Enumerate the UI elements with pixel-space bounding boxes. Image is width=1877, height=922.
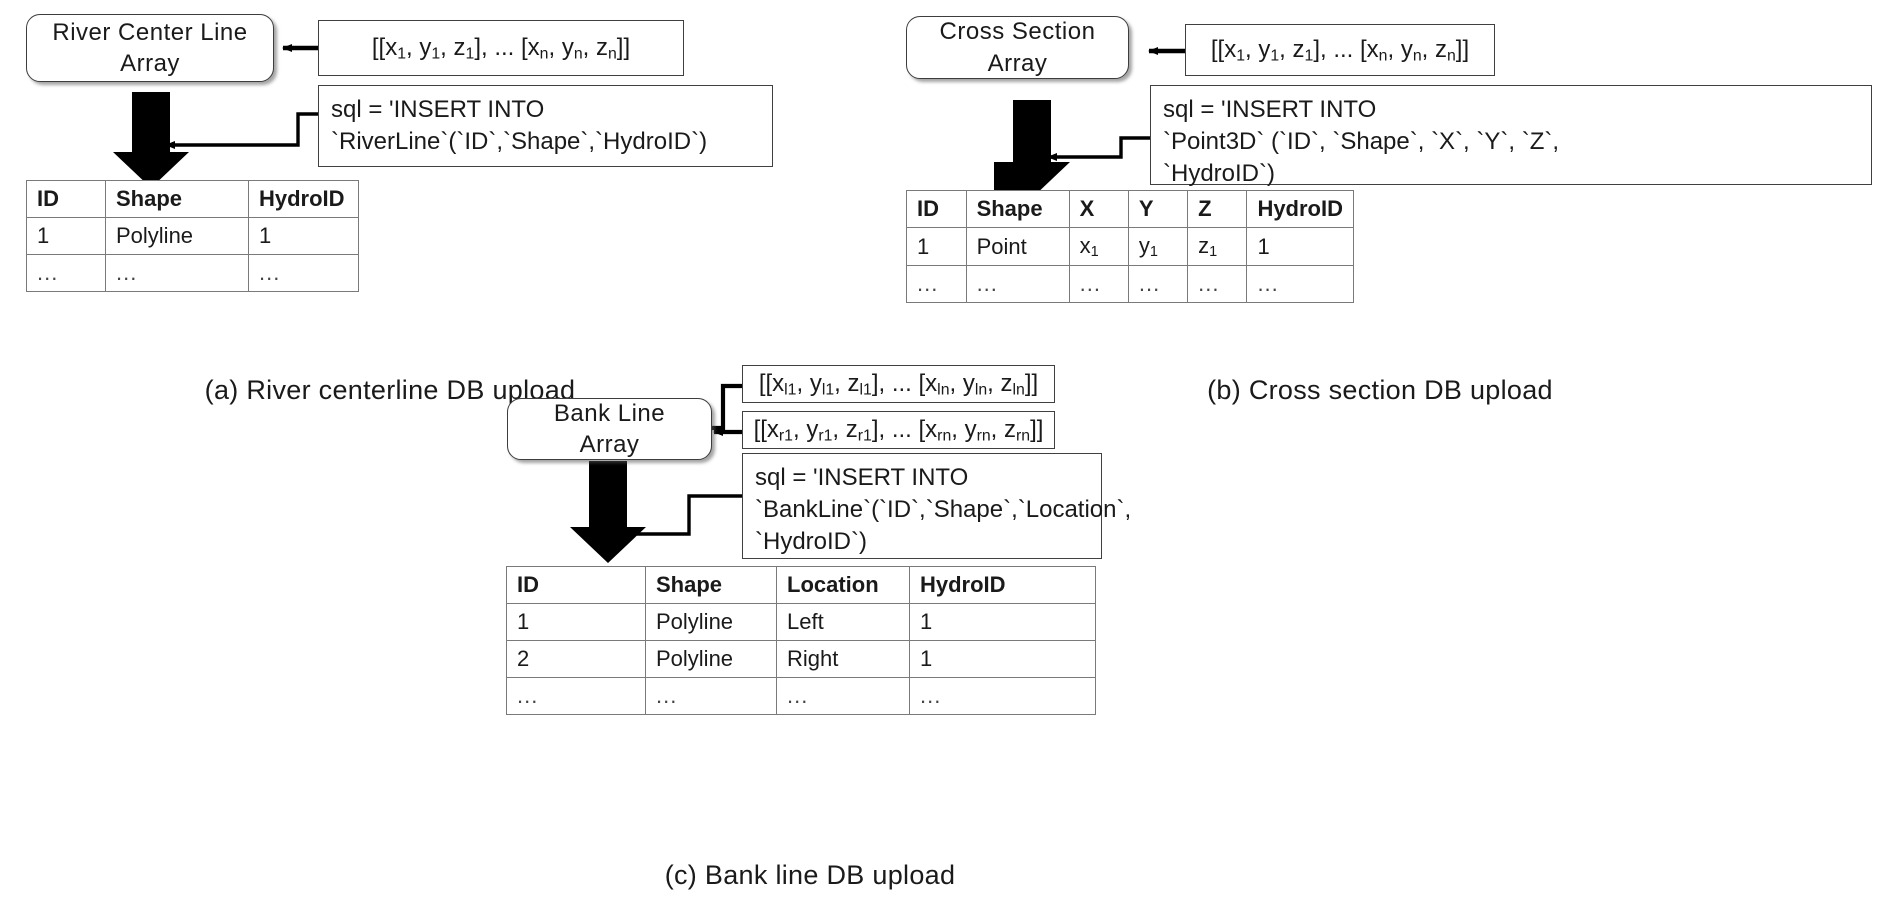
- panel-c-th-hydroid: HydroID: [910, 567, 1096, 604]
- panel-a-r0c2: 1: [249, 218, 359, 255]
- panel-c-th-location: Location: [777, 567, 910, 604]
- panel-a-sql-box: sql = 'INSERT INTO `RiverLine`(`ID`,`Sha…: [318, 85, 773, 167]
- panel-c-sql-to-arrow-connector: [624, 496, 742, 534]
- panel-c-right-array-literal-text: [[xr1, yr1, zr1], ... [xrn, yrn, zrn]]: [754, 414, 1044, 447]
- panel-a-th-hydroid: HydroID: [249, 181, 359, 218]
- panel-a-sql-to-arrow-connector: [166, 114, 318, 145]
- table-header-row: ID Shape X Y Z HydroID: [907, 191, 1354, 228]
- panel-b-th-z: Z: [1188, 191, 1247, 228]
- panel-c-table: ID Shape Location HydroID 1 Polyline Lef…: [506, 566, 1096, 715]
- panel-b-r1c1: ...: [966, 266, 1069, 303]
- panel-b-sql-box: sql = 'INSERT INTO `Point3D` (`ID`, `Sha…: [1150, 85, 1872, 185]
- panel-b-r1c3: ...: [1128, 266, 1187, 303]
- panel-a-fat-down-arrow: [113, 92, 189, 188]
- panel-c-caption: (c) Bank line DB upload: [510, 860, 1110, 891]
- panel-a-array-literal-text: [[x1, y1, z1], ... [xn, yn, zn]]: [372, 32, 630, 65]
- table-row: ... ... ...: [27, 255, 359, 292]
- panel-a-r0c1: Polyline: [106, 218, 249, 255]
- panel-b-r0c1: Point: [966, 228, 1069, 266]
- panel-b-th-hydroid: HydroID: [1247, 191, 1354, 228]
- panel-a-th-id: ID: [27, 181, 106, 218]
- panel-c-array-node: Bank Line Array: [507, 398, 712, 460]
- panel-b-array-node: Cross Section Array: [906, 16, 1129, 79]
- panel-c-r0c3: 1: [910, 604, 1096, 641]
- panel-c-left-array-literal-box: [[xl1, yl1, zl1], ... [xln, yln, zln]]: [742, 365, 1055, 403]
- panel-b-r0c4: z1: [1188, 228, 1247, 266]
- panel-b-array-literal-text: [[x1, y1, z1], ... [xn, yn, zn]]: [1211, 34, 1469, 67]
- panel-b-table: ID Shape X Y Z HydroID 1 Point x1 y1 z1 …: [906, 190, 1354, 303]
- table-row: 1 Polyline 1: [27, 218, 359, 255]
- panel-b-r0c5: 1: [1247, 228, 1354, 266]
- panel-b-node-line1: Cross Section: [940, 18, 1096, 45]
- panel-b-r1c2: ...: [1069, 266, 1128, 303]
- panel-b-r1c5: ...: [1247, 266, 1354, 303]
- panel-a-node-line2: Array: [120, 50, 180, 77]
- table-row: 1 Polyline Left 1: [507, 604, 1096, 641]
- panel-b-th-x: X: [1069, 191, 1128, 228]
- panel-b-sql-text: sql = 'INSERT INTO `Point3D` (`ID`, `Sha…: [1163, 94, 1559, 190]
- panel-c-th-id: ID: [507, 567, 646, 604]
- panel-b-array-node-label: Cross Section Array: [940, 16, 1096, 78]
- panel-c-r2c1: ...: [646, 678, 777, 715]
- panel-c-r2c3: ...: [910, 678, 1096, 715]
- table-row: ... ... ... ...: [507, 678, 1096, 715]
- panel-c-th-shape: Shape: [646, 567, 777, 604]
- panel-a-th-shape: Shape: [106, 181, 249, 218]
- panel-c-r0c0: 1: [507, 604, 646, 641]
- panel-a-r1c2: ...: [249, 255, 359, 292]
- panel-b-r0c0: 1: [907, 228, 967, 266]
- table-row: 1 Point x1 y1 z1 1: [907, 228, 1354, 266]
- panel-c-r0c2: Left: [777, 604, 910, 641]
- panel-b-r0c2: x1: [1069, 228, 1128, 266]
- panel-b-caption: (b) Cross section DB upload: [1030, 375, 1730, 406]
- panel-c-r1c2: Right: [777, 641, 910, 678]
- panel-c-node-line1: Bank Line: [554, 400, 665, 427]
- panel-c-right-array-literal-box: [[xr1, yr1, zr1], ... [xrn, yrn, zrn]]: [742, 411, 1055, 449]
- panel-c-r1c3: 1: [910, 641, 1096, 678]
- panel-b-r1c4: ...: [1188, 266, 1247, 303]
- panel-c-left-array-literal-text: [[xl1, yl1, zl1], ... [xln, yln, zln]]: [759, 368, 1038, 401]
- panel-c-r0c1: Polyline: [646, 604, 777, 641]
- table-header-row: ID Shape Location HydroID: [507, 567, 1096, 604]
- panel-c-sql-text: sql = 'INSERT INTO `BankLine`(`ID`,`Shap…: [755, 462, 1131, 558]
- panel-c-r1c1: Polyline: [646, 641, 777, 678]
- panel-a-array-node-label: River Center Line Array: [52, 17, 247, 79]
- panel-c-r2c0: ...: [507, 678, 646, 715]
- panel-b-r1c0: ...: [907, 266, 967, 303]
- panel-a-r0c0: 1: [27, 218, 106, 255]
- panel-b-sql-to-arrow-connector: [1048, 138, 1156, 157]
- panel-b-array-literal-box: [[x1, y1, z1], ... [xn, yn, zn]]: [1185, 24, 1495, 76]
- panel-a-sql-text: sql = 'INSERT INTO `RiverLine`(`ID`,`Sha…: [331, 94, 707, 158]
- panel-c-node-line2: Array: [580, 431, 640, 458]
- panel-a-array-literal-box: [[x1, y1, z1], ... [xn, yn, zn]]: [318, 20, 684, 76]
- panel-c-array-node-label: Bank Line Array: [554, 398, 665, 460]
- panel-b-fat-down-arrow: [994, 100, 1070, 198]
- panel-c-sql-box: sql = 'INSERT INTO `BankLine`(`ID`,`Shap…: [742, 453, 1102, 559]
- panel-b-th-id: ID: [907, 191, 967, 228]
- panel-b-th-y: Y: [1128, 191, 1187, 228]
- panel-a-r1c1: ...: [106, 255, 249, 292]
- table-row: 2 Polyline Right 1: [507, 641, 1096, 678]
- table-header-row: ID Shape HydroID: [27, 181, 359, 218]
- table-row: ... ... ... ... ... ...: [907, 266, 1354, 303]
- panel-b-th-shape: Shape: [966, 191, 1069, 228]
- panel-c-r2c2: ...: [777, 678, 910, 715]
- panel-a-array-node: River Center Line Array: [26, 14, 274, 82]
- panel-b-r0c3: y1: [1128, 228, 1187, 266]
- panel-a-r1c0: ...: [27, 255, 106, 292]
- panel-a-node-line1: River Center Line: [52, 19, 247, 46]
- panel-c-fat-down-arrow: [570, 461, 646, 563]
- panel-c-r1c0: 2: [507, 641, 646, 678]
- panel-a-table: ID Shape HydroID 1 Polyline 1 ... ... ..…: [26, 180, 359, 292]
- panel-b-node-line2: Array: [988, 50, 1048, 77]
